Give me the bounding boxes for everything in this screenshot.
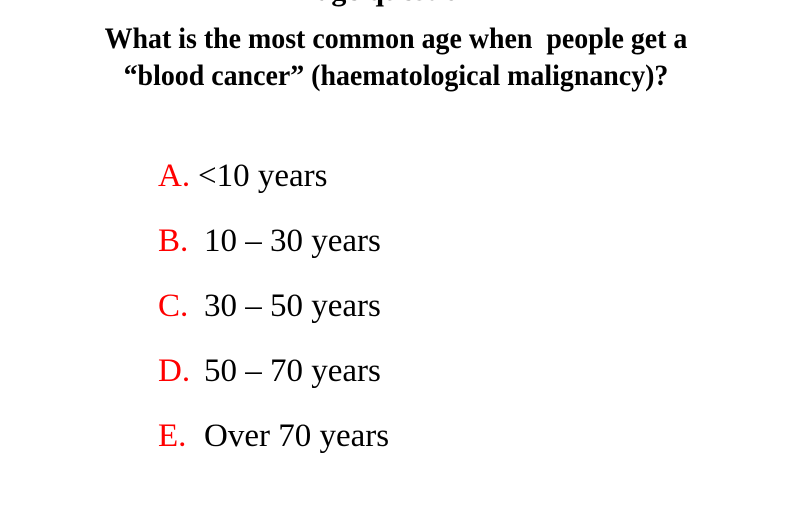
answer-option-d-label: 50 – 70 years bbox=[204, 351, 381, 391]
question-stem: What is the most common age when people … bbox=[0, 20, 792, 94]
answer-option-e-label: Over 70 years bbox=[204, 416, 389, 456]
answer-option-c[interactable]: C. 30 – 50 years bbox=[158, 286, 718, 351]
question-line-2: “blood cancer” (haematological malignanc… bbox=[28, 57, 765, 94]
answer-option-a[interactable]: A. <10 years bbox=[158, 156, 718, 221]
answer-option-e[interactable]: E. Over 70 years bbox=[158, 416, 718, 481]
question-line-1: What is the most common age when people … bbox=[28, 20, 765, 57]
answer-option-c-label: 30 – 50 years bbox=[204, 286, 381, 326]
answer-option-e-marker: E. bbox=[158, 416, 204, 456]
answer-option-d[interactable]: D. 50 – 70 years bbox=[158, 351, 718, 416]
answer-option-d-marker: D. bbox=[158, 351, 204, 391]
answer-option-c-marker: C. bbox=[158, 286, 204, 326]
answer-option-b-marker: B. bbox=[158, 221, 204, 261]
answer-option-b-label: 10 – 30 years bbox=[204, 221, 381, 261]
answer-options-list: A. <10 years B. 10 – 30 years C. 30 – 50… bbox=[158, 156, 718, 481]
clipped-heading-above: age question bbox=[0, 0, 792, 8]
answer-option-a-marker: A. bbox=[158, 156, 198, 196]
answer-option-b[interactable]: B. 10 – 30 years bbox=[158, 221, 718, 286]
answer-option-a-label: <10 years bbox=[198, 156, 328, 196]
